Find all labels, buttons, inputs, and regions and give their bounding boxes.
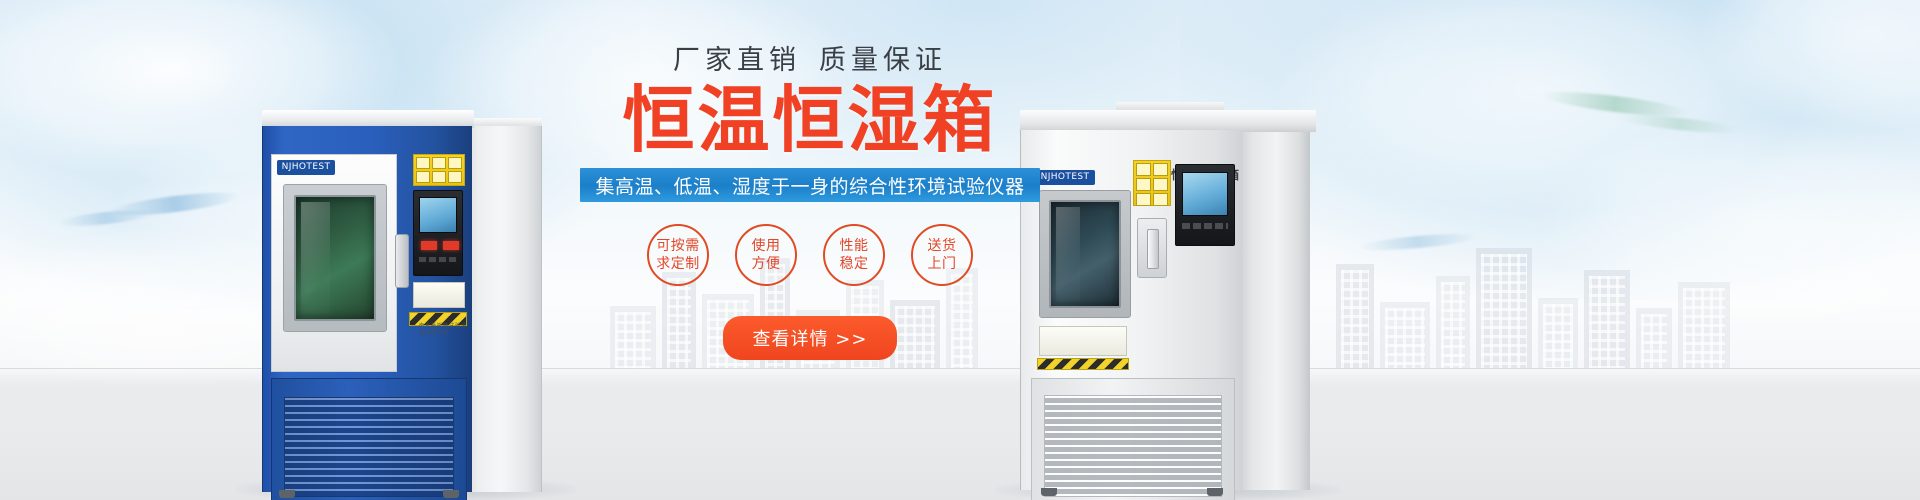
product-left-door-handle [395,234,409,288]
product-right-warning-labels [1133,160,1171,206]
product-right-foot-2 [1207,488,1223,496]
product-left-led-temp [421,241,437,250]
product-left-viewing-window [294,195,376,321]
cta-container: 查看详情 >> [560,316,1060,360]
product-left-warning-labels [413,154,465,186]
product-left-controller [413,190,463,276]
badge-3-line-2: 稳定 [840,255,869,273]
product-left-spec-sticker [413,282,465,308]
product-right-base-unit [1031,378,1235,500]
badge-4-line-2: 上门 [928,255,957,273]
cloud-7 [1700,0,1920,130]
view-details-button[interactable]: 查看详情 >> [723,316,898,360]
feature-badge-easy-use[interactable]: 使用 方便 [735,224,797,286]
product-image-right: NJHOTEST 恒温恒湿箱 [1020,100,1310,496]
swoosh-left-1 [110,188,241,220]
product-left-led-humidity [443,241,459,250]
badge-3-line-1: 性能 [840,237,869,255]
product-image-left: NJHOTEST 南京豪斯特试验设备有限公司 [262,102,542,494]
product-right-top-cap [1020,110,1316,132]
product-left-foot-1 [279,490,295,498]
product-right-controller-buttons [1182,223,1228,229]
product-left-door-frame [283,184,387,332]
feature-badge-list: 可按需 求定制 使用 方便 性能 稳定 送货 上门 [560,224,1060,286]
swoosh-right-2 [1620,112,1741,136]
badge-4-line-1: 送货 [928,237,957,255]
cloud-5 [1280,0,1800,210]
product-left-brand-logo: NJHOTEST [277,160,335,175]
product-right-controller-screen [1182,172,1228,216]
swoosh-left-2 [58,207,155,229]
product-left-base-unit [271,378,467,500]
badge-1-line-1: 可按需 [656,237,700,255]
product-right-door-handle [1137,218,1167,278]
product-left-body: NJHOTEST 南京豪斯特试验设备有限公司 [262,126,472,492]
product-right-vent-louver [1044,395,1222,497]
badge-1-line-2: 求定制 [656,255,700,273]
banner-headline: 恒温恒湿箱 [560,82,1060,158]
badge-2-line-2: 方便 [752,255,781,273]
product-left-foot-2 [443,490,459,498]
city-silhouette-right [1330,238,1760,368]
swoosh-right-1 [1540,87,1691,121]
promo-banner: NJHOTEST 南京豪斯特试验设备有限公司 [0,0,1920,500]
product-right-controller [1175,164,1235,246]
tagline-part-1: 厂家直销 [673,45,801,76]
feature-badge-stable[interactable]: 性能 稳定 [823,224,885,286]
product-left-vent-louver [284,397,454,497]
banner-subtitle: 集高温、低温、湿度于一身的综合性环境试验仪器 [595,172,1024,199]
banner-subtitle-bar: 集高温、低温、湿度于一身的综合性环境试验仪器 [580,168,1040,202]
badge-2-line-1: 使用 [752,237,781,255]
product-left-side-panel [464,124,542,492]
cloud-6 [1540,120,1920,330]
banner-tagline: 厂家直销质量保证 [560,46,1060,76]
product-right-foot-1 [1041,488,1057,496]
swoosh-right-3 [1358,231,1479,253]
feature-badge-custom[interactable]: 可按需 求定制 [647,224,709,286]
feature-badge-delivery[interactable]: 送货 上门 [911,224,973,286]
banner-copy-block: 厂家直销质量保证 恒温恒湿箱 集高温、低温、湿度于一身的综合性环境试验仪器 可按… [560,46,1060,360]
product-left-company-note: 南京豪斯特试验设备有限公司 [419,322,472,336]
product-left-controller-screen [419,197,457,233]
tagline-part-2: 质量保证 [819,45,947,76]
product-right-side-panel [1236,128,1310,490]
product-left-side-top [464,118,542,126]
product-left-controller-buttons [419,257,457,262]
